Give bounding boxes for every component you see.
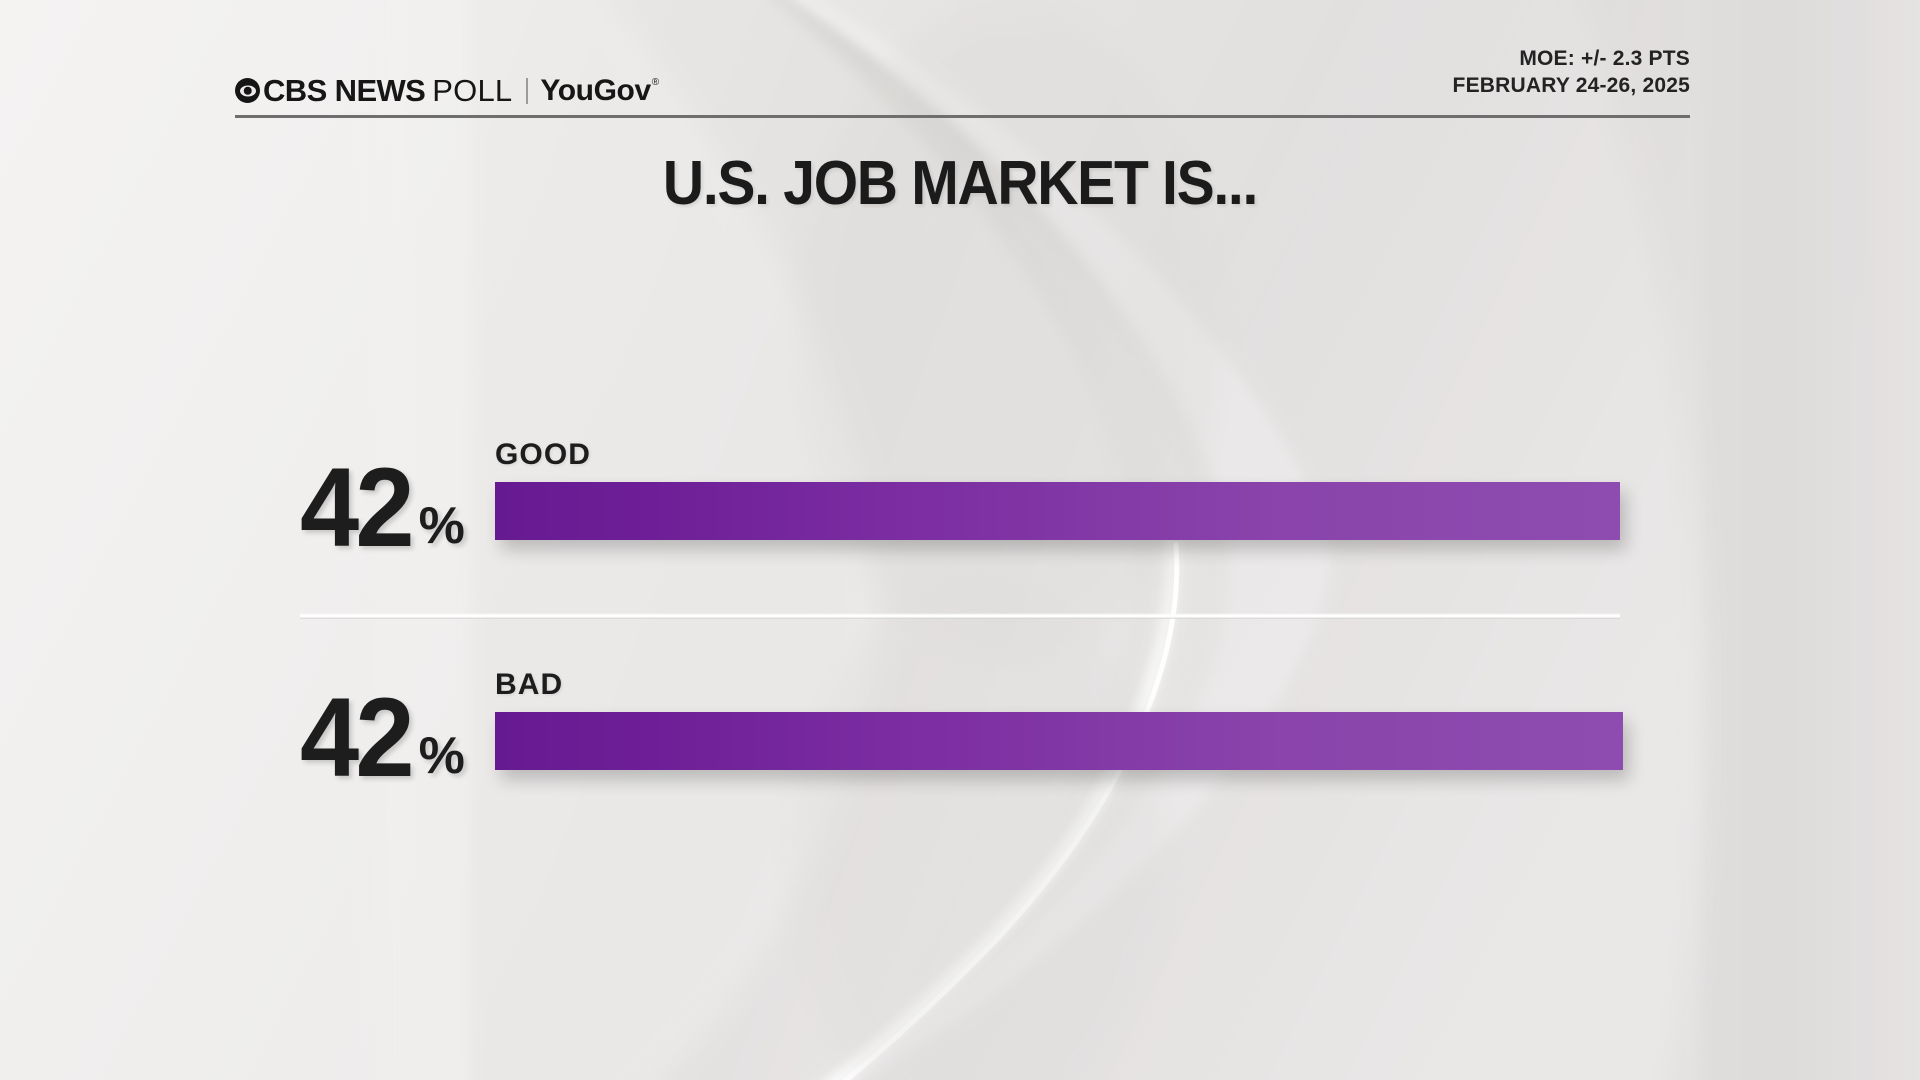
bar-bad (495, 712, 1623, 770)
value-good: 42 % (300, 462, 465, 554)
row-divider (300, 613, 1620, 619)
value-bad: 42 % (300, 692, 465, 784)
value-bad-number: 42 (300, 692, 411, 784)
value-good-percent-sign: % (419, 500, 465, 552)
bar-block-bad: BAD (495, 670, 1623, 770)
poll-graphic-canvas: CBS NEWS POLL YouGov® MOE: +/- 2.3 PTS F… (0, 0, 1920, 1080)
bar-good (495, 482, 1620, 540)
value-good-number: 42 (300, 462, 411, 554)
bar-chart: 42 % GOOD 42 % BAD (0, 0, 1920, 1080)
bar-label-bad: BAD (495, 670, 1623, 700)
value-bad-percent-sign: % (419, 730, 465, 782)
bar-label-good: GOOD (495, 440, 1620, 470)
bar-block-good: GOOD (495, 440, 1620, 540)
